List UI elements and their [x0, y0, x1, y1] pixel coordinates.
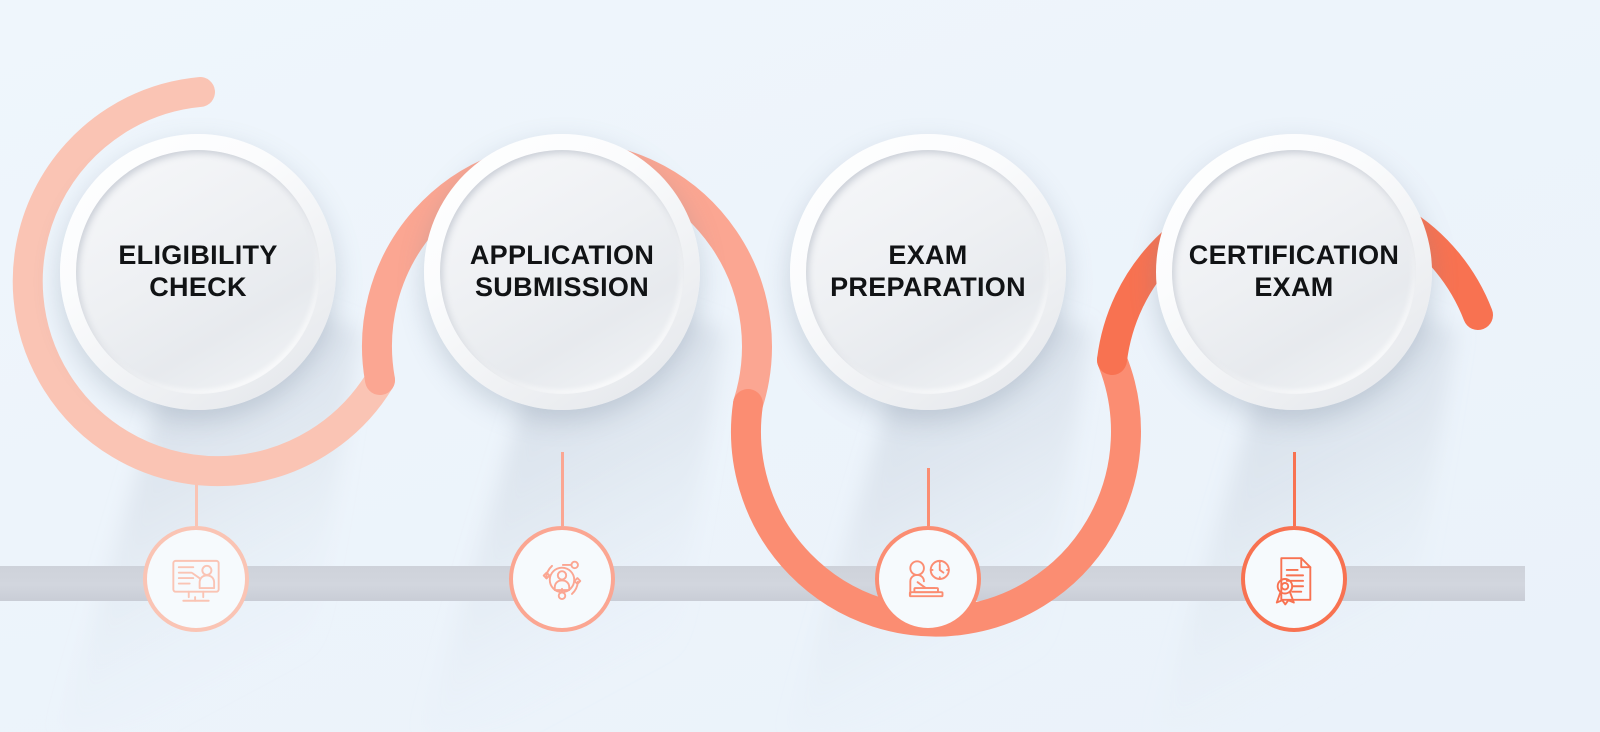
step-medallion-4[interactable] [1241, 526, 1347, 632]
step-label-3: EXAM PREPARATION [830, 240, 1026, 304]
stem-connector-1 [195, 462, 198, 526]
monitor-presentation-icon [167, 550, 225, 608]
step-medallion-2[interactable] [509, 526, 615, 632]
step-node-3[interactable]: EXAM PREPARATION [790, 134, 1066, 410]
stem-connector-4 [1293, 452, 1296, 526]
step-label-2: APPLICATION SUBMISSION [470, 240, 654, 304]
certificate-award-icon [1265, 550, 1323, 608]
step-disc-inner-2: APPLICATION SUBMISSION [440, 150, 684, 394]
step-label-4: CERTIFICATION EXAM [1189, 240, 1399, 304]
step-node-1[interactable]: ELIGIBILITY CHECK [60, 134, 336, 410]
step-label-1: ELIGIBILITY CHECK [118, 240, 277, 304]
step-node-2[interactable]: APPLICATION SUBMISSION [424, 134, 700, 410]
step-disc-inner-4: CERTIFICATION EXAM [1172, 150, 1416, 394]
step-disc-inner-3: EXAM PREPARATION [806, 150, 1050, 394]
step-medallion-1[interactable] [143, 526, 249, 632]
step-node-4[interactable]: CERTIFICATION EXAM [1156, 134, 1432, 410]
stem-connector-2 [561, 452, 564, 526]
infographic-canvas: ELIGIBILITY CHECKAPPLICATION SUBMISSIONE… [0, 0, 1600, 732]
stem-connector-3 [927, 468, 930, 526]
step-disc-inner-1: ELIGIBILITY CHECK [76, 150, 320, 394]
user-network-icon [533, 550, 591, 608]
step-medallion-3[interactable] [875, 526, 981, 632]
student-desk-clock-icon [899, 550, 957, 608]
